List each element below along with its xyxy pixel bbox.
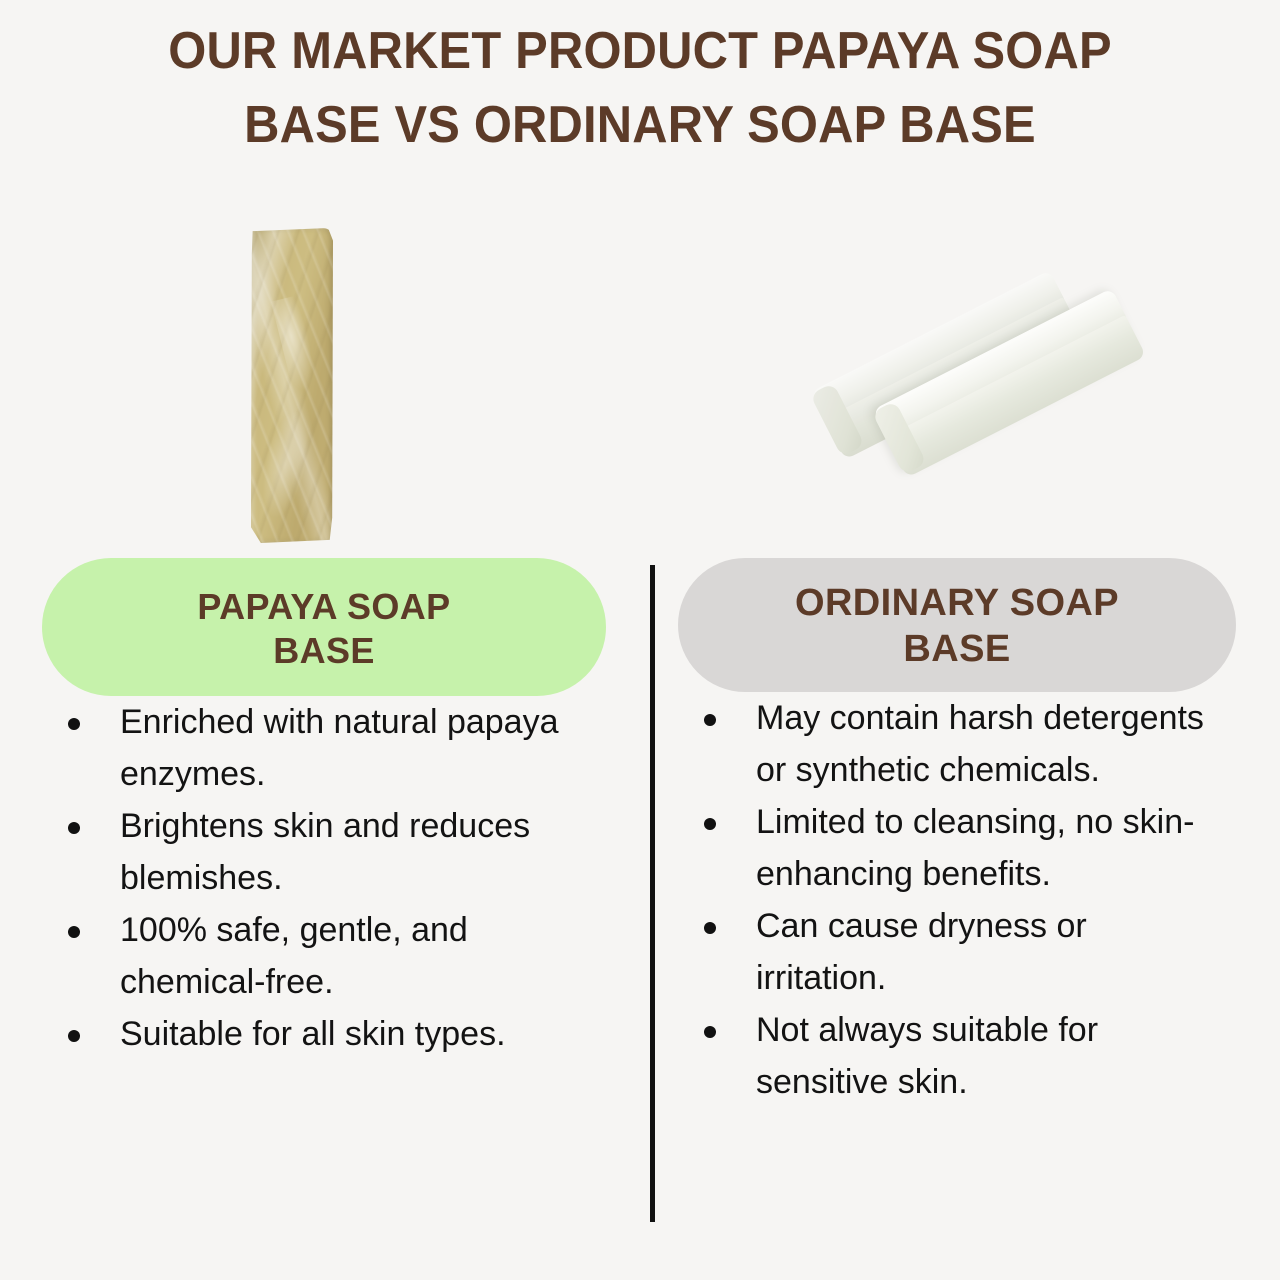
list-item: Brightens skin and reduces blemishes. <box>42 800 608 904</box>
papaya-label-line-2: BASE <box>273 629 375 673</box>
list-item: 100% safe, gentle, and chemical-free. <box>42 904 608 1008</box>
list-item: Enriched with natural papaya enzymes. <box>42 696 608 800</box>
infographic-poster: OUR MARKET PRODUCT PAPAYA SOAP BASE VS O… <box>0 0 1280 1280</box>
papaya-label-line-1: PAPAYA SOAP <box>197 585 450 629</box>
papaya-soap-bar-image <box>248 228 338 546</box>
papaya-benefits-list: Enriched with natural papaya enzymes. Br… <box>42 696 608 1060</box>
column-divider <box>650 565 655 1222</box>
list-item: Limited to cleansing, no skin-enhancing … <box>678 796 1218 900</box>
product-image-row <box>0 190 1280 570</box>
ordinary-drawbacks-list: May contain harsh detergents or syntheti… <box>678 692 1218 1108</box>
page-title-line-2: BASE VS ORDINARY SOAP BASE <box>38 88 1241 162</box>
ordinary-label-line-1: ORDINARY SOAP <box>795 580 1119 626</box>
list-item: Not always suitable for sensitive skin. <box>678 1004 1218 1108</box>
list-item: Suitable for all skin types. <box>42 1008 608 1060</box>
left-column: PAPAYA SOAP BASE Enriched with natural p… <box>42 558 608 1060</box>
ordinary-soap-base-label: ORDINARY SOAP BASE <box>678 558 1236 692</box>
list-item: Can cause dryness or irritation. <box>678 900 1218 1004</box>
papaya-bar-body <box>251 228 333 543</box>
page-title: OUR MARKET PRODUCT PAPAYA SOAP BASE VS O… <box>0 14 1280 162</box>
right-column: ORDINARY SOAP BASE May contain harsh det… <box>678 558 1238 1108</box>
ordinary-soap-bars-image <box>805 245 1145 485</box>
ordinary-label-line-2: BASE <box>903 626 1010 672</box>
papaya-soap-base-label: PAPAYA SOAP BASE <box>42 558 606 696</box>
list-item: May contain harsh detergents or syntheti… <box>678 692 1218 796</box>
page-title-line-1: OUR MARKET PRODUCT PAPAYA SOAP <box>38 14 1241 88</box>
